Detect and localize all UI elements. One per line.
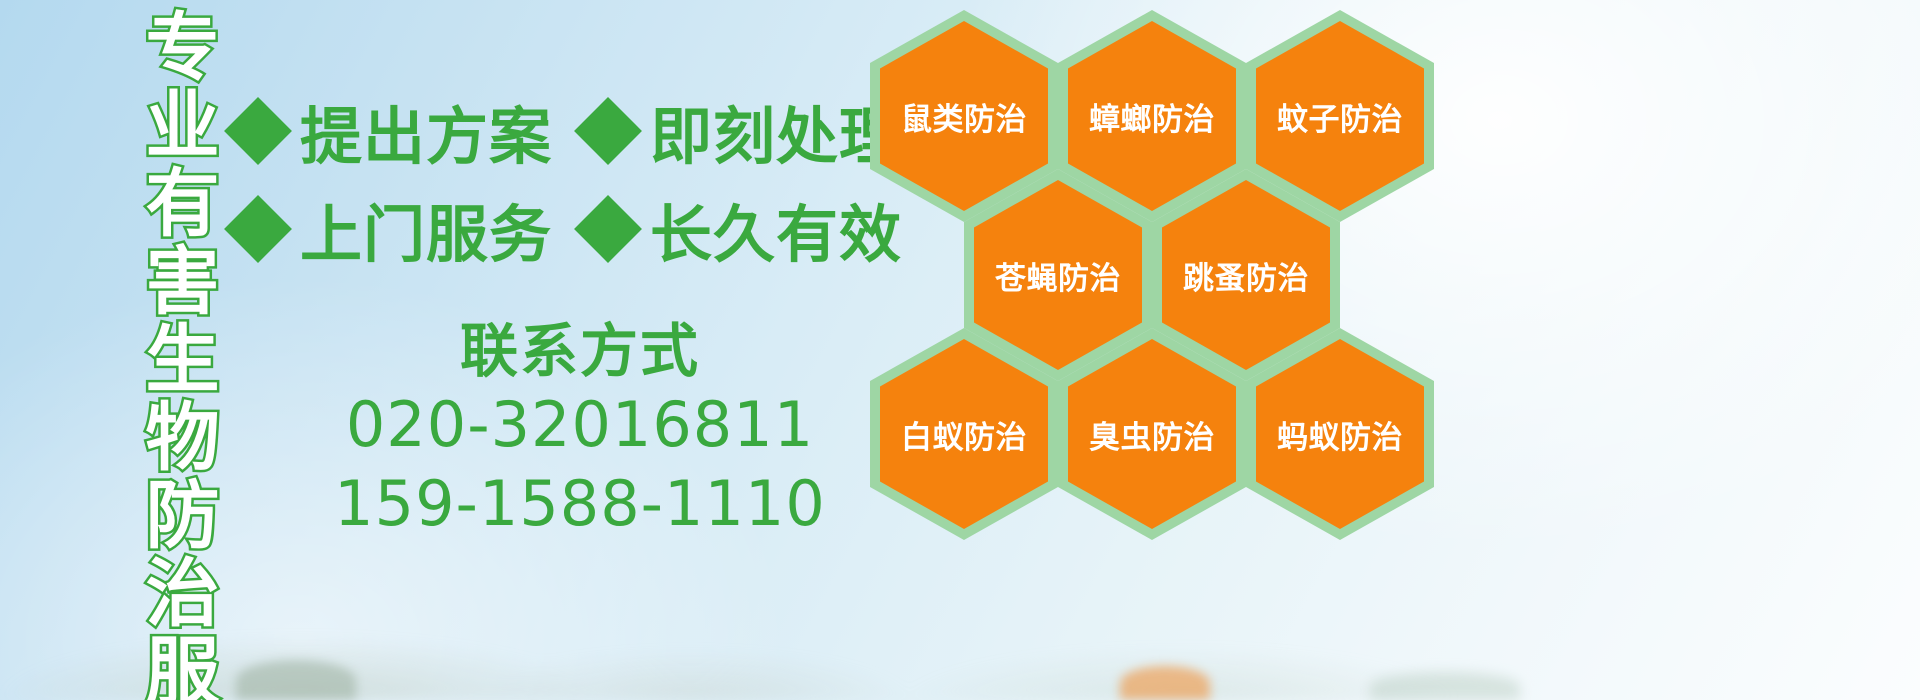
- contact-title: 联系方式: [300, 318, 860, 385]
- contact-phone-landline[interactable]: 020-32016811: [300, 385, 860, 464]
- service-hex-label: 跳蚤防治: [1183, 253, 1309, 298]
- diamond-bullet-icon: [574, 97, 642, 165]
- vertical-headline: 专业有害生物防治服务: [118, 8, 210, 698]
- feature-item-long-lasting-effect: 长久有效: [582, 184, 902, 274]
- service-hex-label: 鼠类防治: [901, 94, 1027, 139]
- service-hex-inner: 蟑螂防治: [1068, 21, 1236, 211]
- feature-row: 提出方案 即刻处理: [232, 82, 872, 180]
- services-honeycomb: 鼠类防治 蟑螂防治 蚊子防治 苍蝇防治 跳蚤防治 白蚁防治: [860, 0, 1460, 700]
- diamond-bullet-icon: [224, 195, 292, 263]
- service-hex-label: 臭虫防治: [1089, 412, 1215, 457]
- service-hex-inner: 苍蝇防治: [974, 180, 1142, 370]
- feature-item-door-to-door-service: 上门服务: [232, 184, 552, 274]
- service-hex-label: 蟑螂防治: [1089, 94, 1215, 139]
- pest-control-service-banner: 专业有害生物防治服务 提出方案 即刻处理 上门服务 长久有效 联系方式: [0, 0, 1920, 700]
- diamond-bullet-icon: [224, 97, 292, 165]
- contact-block: 联系方式 020-32016811 159-1588-1110: [300, 318, 860, 543]
- service-hex-label: 蚂蚁防治: [1277, 412, 1403, 457]
- feature-label: 提出方案: [300, 86, 552, 176]
- contact-phone-mobile[interactable]: 159-1588-1110: [300, 464, 860, 543]
- service-hex-label: 蚊子防治: [1277, 94, 1403, 139]
- feature-item-immediate-handling: 即刻处理: [582, 86, 902, 176]
- diamond-bullet-icon: [574, 195, 642, 263]
- feature-item-propose-plan: 提出方案: [232, 86, 552, 176]
- service-hex-inner: 鼠类防治: [880, 21, 1048, 211]
- service-hex-inner: 跳蚤防治: [1162, 180, 1330, 370]
- service-hex-inner: 蚂蚁防治: [1256, 339, 1424, 529]
- service-hex-inner: 臭虫防治: [1068, 339, 1236, 529]
- background-blur-blob-left: [236, 660, 356, 700]
- service-hex-label: 苍蝇防治: [995, 253, 1121, 298]
- service-hex-inner: 白蚁防治: [880, 339, 1048, 529]
- feature-row: 上门服务 长久有效: [232, 180, 872, 278]
- service-hex-inner: 蚊子防治: [1256, 21, 1424, 211]
- feature-label: 上门服务: [300, 184, 552, 274]
- feature-list: 提出方案 即刻处理 上门服务 长久有效: [232, 82, 872, 278]
- service-hex-label: 白蚁防治: [901, 412, 1027, 457]
